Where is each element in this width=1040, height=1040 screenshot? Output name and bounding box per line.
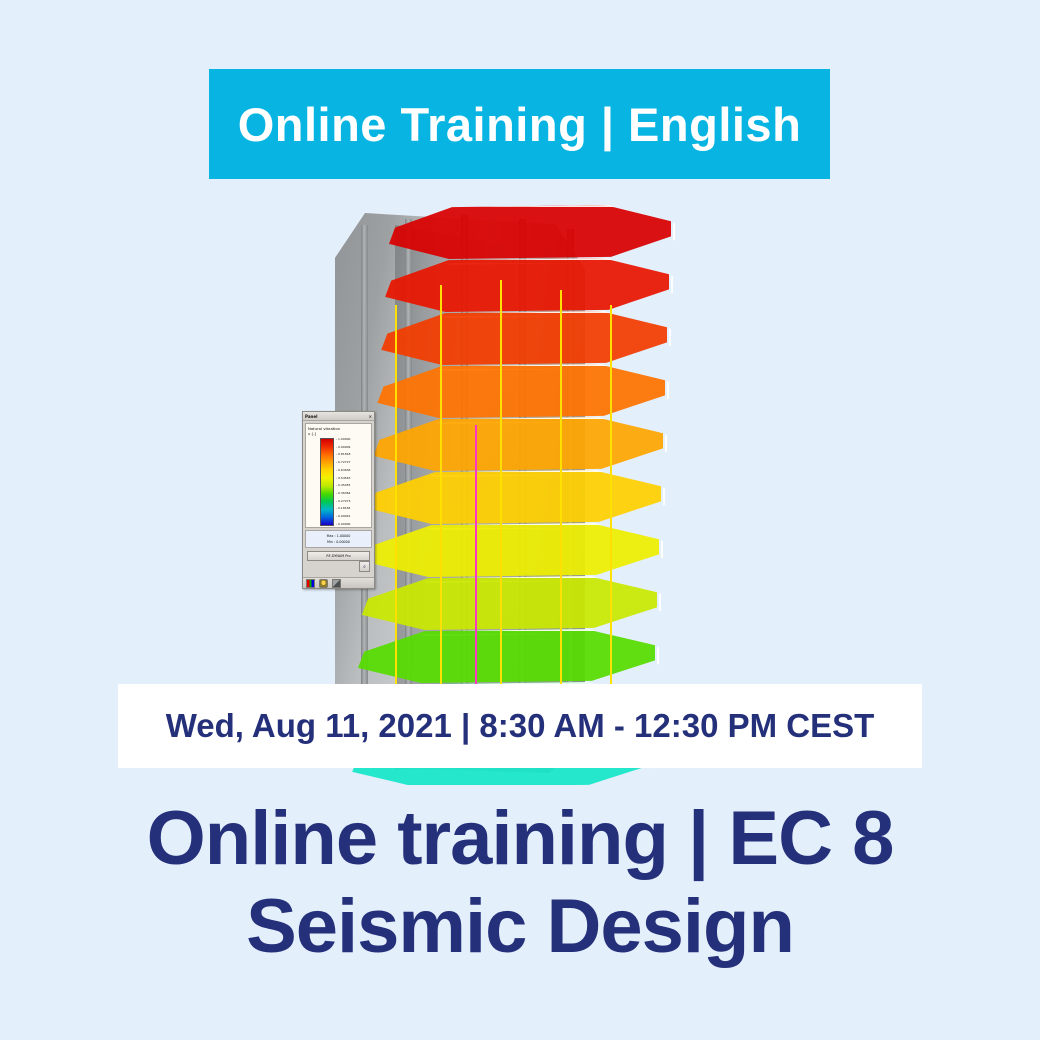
date-time-bar: Wed, Aug 11, 2021 | 8:30 AM - 12:30 PM C… [118,684,922,768]
header-banner-label: Online Training | English [238,97,802,152]
mode-shape-line [440,285,442,735]
color-legend: 1.00000 0.90909 0.81818 0.72727 0.63636 … [320,438,350,526]
render-icon[interactable] [332,579,341,588]
panel-max-label: Max : [327,534,336,538]
panel-min-value: 0.00000 [336,540,350,544]
lighting-icon[interactable] [319,579,328,588]
legend-tick: 0.00000 [336,523,350,526]
mode-shape-line [610,305,612,725]
rf-dynam-pro-button[interactable]: RF-DYNAM Pro [307,551,370,561]
mode-shape-line [475,425,477,715]
date-time-label: Wed, Aug 11, 2021 | 8:30 AM - 12:30 PM C… [166,707,875,745]
page-title-line-2: Seismic Design [0,883,1040,971]
legend-tick: 0.90909 [336,446,350,449]
mode-shape-line [395,305,397,735]
mode-shape-line [500,280,502,735]
legend-tick: 0.36364 [336,492,350,495]
panel-toolbar [303,577,374,588]
legend-tick: 0.63636 [336,469,350,472]
legend-tick: 0.18182 [336,507,350,510]
legend-tick: 1.00000 [336,438,350,441]
panel-legend-area: Natural vibration u [-] 1.00000 0.90909 … [305,423,372,528]
color-legend-scale: 1.00000 0.90909 0.81818 0.72727 0.63636 … [336,438,350,526]
mode-shape-line [560,290,562,735]
page-title-line-1: Online training | EC 8 [0,795,1040,883]
panel-title-bar[interactable]: Panel × [303,412,374,421]
search-icon[interactable]: ⌕ [359,561,370,572]
panel-minmax-box: Max : 1.00000 Min : 0.00000 [305,530,372,548]
header-banner: Online Training | English [209,69,830,179]
panel-min-label: Min : [327,540,335,544]
legend-tick: 0.09091 [336,515,350,518]
colors-icon[interactable] [306,579,315,588]
poster-canvas: Online Training | English [0,0,1040,1040]
close-icon[interactable]: × [369,414,372,419]
page-title: Online training | EC 8 Seismic Design [0,795,1040,971]
legend-tick: 0.81818 [336,453,350,456]
panel-max-value: 1.00000 [337,534,351,538]
legend-tick: 0.72727 [336,461,350,464]
legend-tick: 0.27273 [336,500,350,503]
color-legend-bar [320,438,334,526]
legend-tick: 0.54545 [336,477,350,480]
panel-unit-label: u [-] [308,431,369,436]
legend-tick: 0.45455 [336,484,350,487]
rfem-panel-window[interactable]: Panel × Natural vibration u [-] 1.00000 … [302,411,375,589]
panel-min-row: Min : 0.00000 [309,539,368,545]
panel-title-label: Panel [305,414,317,419]
